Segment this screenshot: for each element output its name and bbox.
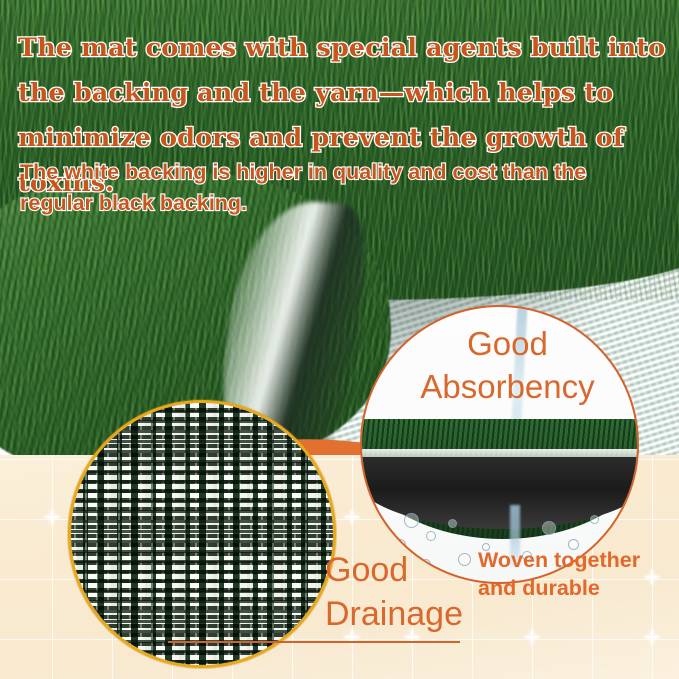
bubble-icon [404,513,419,528]
bubble-icon [590,515,599,524]
bubble-icon [426,531,436,541]
label-absorbency-line2: Absorbency [400,365,615,408]
label-absorbency-line1: Good [400,322,615,365]
weave-closeup-texture [68,400,336,668]
bubble-icon [542,521,556,535]
drainage-underline [168,641,460,643]
subheadline-text: The white backing is higher in quality a… [20,157,620,219]
bubble-icon [448,519,457,528]
label-woven-line2: and durable [478,574,678,602]
product-infographic: The mat comes with special agents built … [0,0,679,679]
callout-circle-drainage [68,400,336,668]
label-good-absorbency: Good Absorbency [400,322,615,408]
label-woven-line1: Woven together [478,546,678,574]
label-woven-durable: Woven together and durable [478,546,678,602]
